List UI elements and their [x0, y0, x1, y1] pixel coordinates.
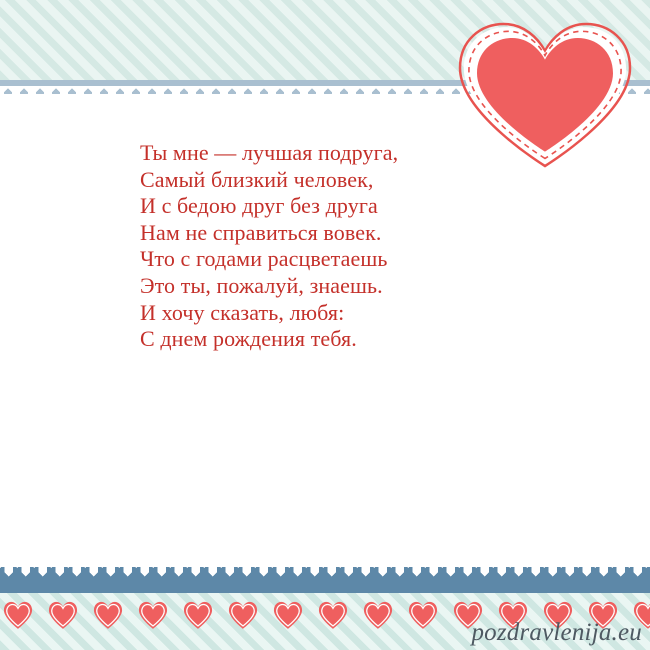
poem-line: С днем рождения тебя.: [140, 326, 560, 353]
bottom-blue-band: [0, 577, 650, 593]
poem-line: Что с годами расцветаешь: [140, 246, 560, 273]
greeting-card: Ты мне — лучшая подруга, Самый близкий ч…: [0, 0, 650, 650]
heart-icon: [272, 599, 304, 631]
heart-icon: [227, 599, 259, 631]
heart-icon: [362, 599, 394, 631]
heart-icon: [47, 599, 79, 631]
poem-line: И с бедою друг без друга: [140, 193, 560, 220]
heart-icon: [317, 599, 349, 631]
poem-line: Это ты, пожалуй, знаешь.: [140, 273, 560, 300]
heart-icon: [137, 599, 169, 631]
poem-text: Ты мне — лучшая подруга, Самый близкий ч…: [140, 140, 560, 353]
poem-line: Самый близкий человек,: [140, 167, 560, 194]
heart-icon: [182, 599, 214, 631]
poem-line: И хочу сказать, любя:: [140, 300, 560, 327]
poem-line: Ты мне — лучшая подруга,: [140, 140, 560, 167]
heart-icon: [407, 599, 439, 631]
poem-line: Нам не справиться вовек.: [140, 220, 560, 247]
heart-icon: [92, 599, 124, 631]
watermark-text: pozdravlenija.eu: [471, 619, 642, 647]
heart-icon: [2, 599, 34, 631]
